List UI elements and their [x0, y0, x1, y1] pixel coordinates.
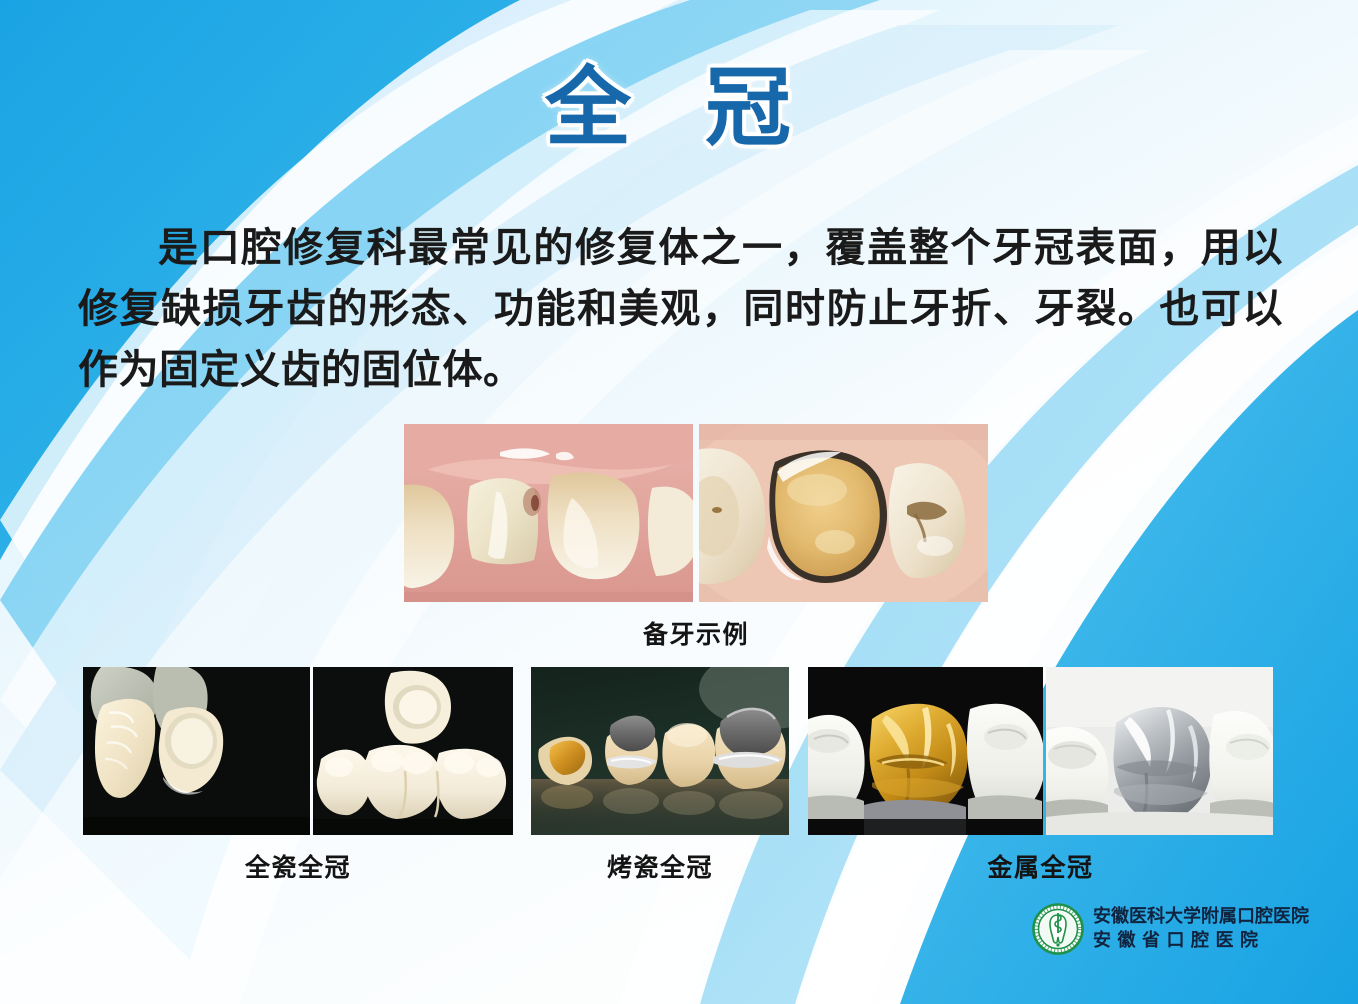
- all-ceramic-bridge-photo: [313, 667, 513, 835]
- gold-metal-crown-photo: [808, 667, 1043, 835]
- caption-metal-crown: 金属全冠: [808, 848, 1273, 884]
- prepared-anterior-tooth-image: [404, 424, 693, 602]
- page-title: 全 冠: [545, 62, 813, 155]
- gold-metal-crown-image: [808, 667, 1043, 835]
- caption-top-group: 备牙示例: [404, 615, 988, 651]
- prepared-anterior-tooth-photo: [404, 424, 693, 602]
- caption-pfm: 烤瓷全冠: [531, 848, 789, 884]
- all-ceramic-bridge-image: [313, 667, 513, 835]
- hospital-emblem-icon: [1032, 903, 1084, 955]
- silver-metal-crown-photo: [1046, 667, 1273, 835]
- hospital-logo: 安徽医科大学附属口腔医院 安徽省口腔医院: [1032, 903, 1309, 955]
- prepared-posterior-tooth-image: [699, 424, 988, 602]
- logo-text-block: 安徽医科大学附属口腔医院 安徽省口腔医院: [1093, 905, 1309, 953]
- pfm-crown-image: [531, 667, 789, 835]
- silver-metal-crown-image: [1046, 667, 1273, 835]
- pfm-crown-photo: [531, 667, 789, 835]
- logo-line-2: 安徽省口腔医院: [1093, 929, 1309, 953]
- prepared-posterior-tooth-photo: [699, 424, 988, 602]
- slide-title-block: 全 冠: [0, 62, 1358, 155]
- all-ceramic-crown-image: [83, 667, 310, 835]
- body-paragraph: 是口腔修复科最常见的修复体之一，覆盖整个牙冠表面，用以修复缺损牙齿的形态、功能和…: [78, 218, 1283, 400]
- caption-all-ceramic: 全瓷全冠: [83, 848, 513, 884]
- slide-canvas: 全 冠 是口腔修复科最常见的修复体之一，覆盖整个牙冠表面，用以修复缺损牙齿的形态…: [0, 0, 1358, 1004]
- logo-line-1: 安徽医科大学附属口腔医院: [1093, 905, 1309, 929]
- all-ceramic-crown-photo: [83, 667, 310, 835]
